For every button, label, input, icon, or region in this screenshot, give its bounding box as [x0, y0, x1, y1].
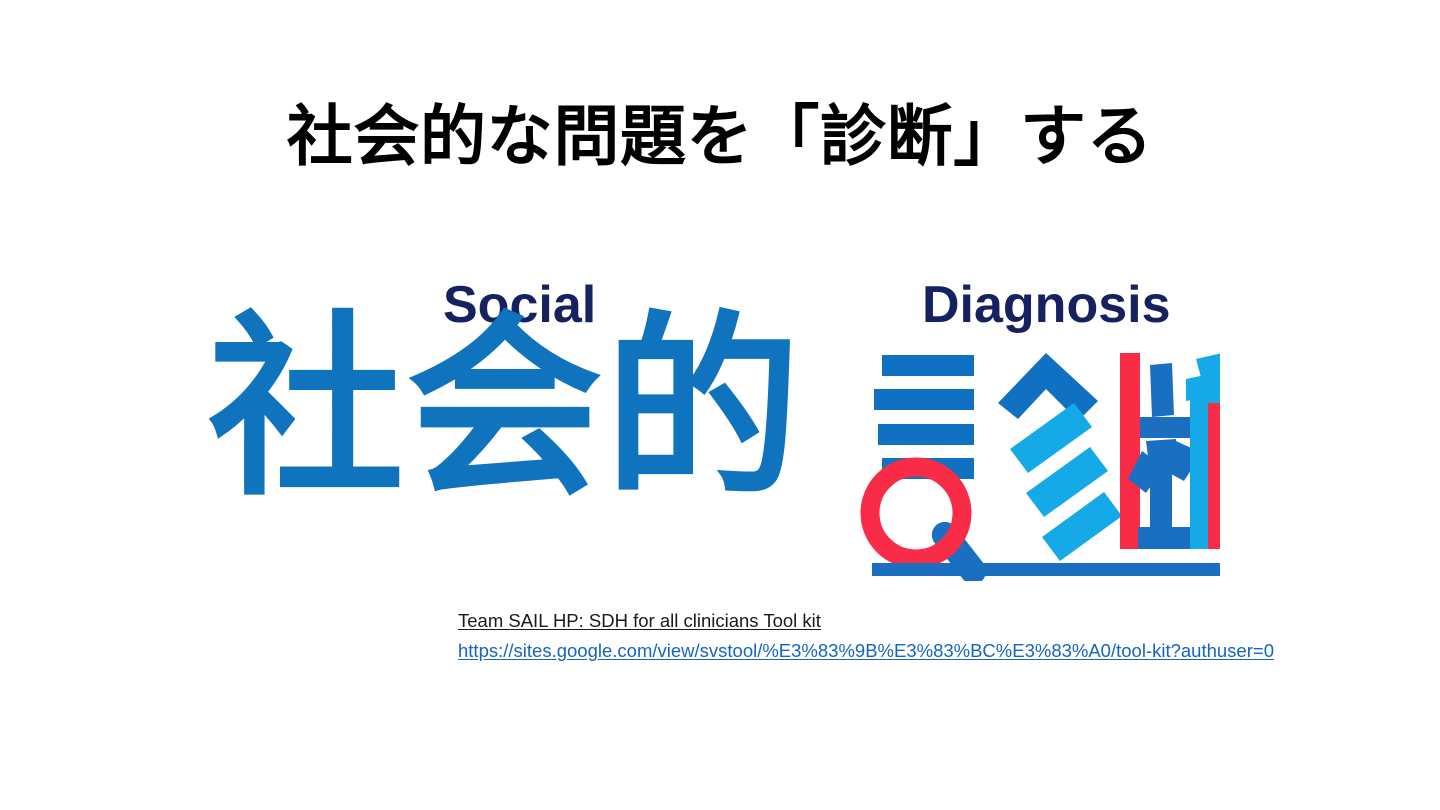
magnifier-lens — [870, 467, 962, 559]
footer-link-title[interactable]: Team SAIL HP: SDH for all clinicians Too… — [458, 606, 1398, 636]
dan-red-vertical-left — [1120, 353, 1140, 549]
footer-links: Team SAIL HP: SDH for all clinicians Too… — [458, 606, 1398, 666]
footer-link-url[interactable]: https://sites.google.com/view/svstool/%E… — [458, 636, 1398, 666]
caption-diagnosis: Diagnosis — [922, 279, 1171, 331]
page-title: 社会的な問題を「診断」する — [0, 101, 1440, 172]
logo-underline-bars — [872, 563, 1220, 576]
dan-red-vertical-right — [1208, 403, 1220, 549]
shindan-chevron — [998, 353, 1098, 421]
shindan-diagonal-strokes — [1010, 403, 1122, 561]
logo-text-shakaiteki: 社会的 — [208, 311, 803, 507]
slide-canvas: 社会的な問題を「診断」する Social Diagnosis 社会的 — [0, 0, 1440, 810]
logo-mark-shindan — [850, 341, 1220, 581]
logo-lockup: 社会的 — [200, 325, 1240, 585]
